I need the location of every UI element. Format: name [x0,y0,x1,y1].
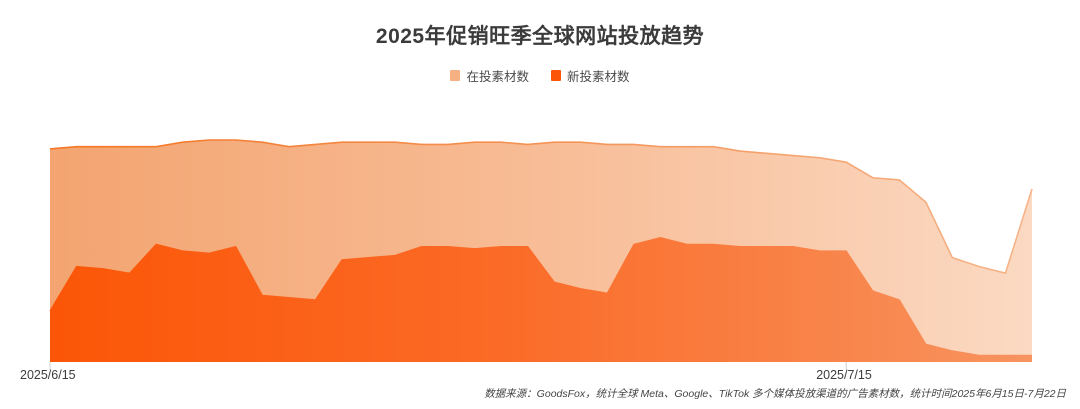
x-axis-label-mid: 2025/7/15 [816,368,872,382]
chart-plot-area [0,0,1080,409]
chart-container: 2025年促销旺季全球网站投放趋势 在投素材数 新投素材数 [0,0,1080,409]
x-axis-label-start: 2025/6/15 [20,368,76,382]
chart-footnote: 数据来源：GoodsFox，统计全球 Meta、Google、TikTok 多个… [484,386,1066,401]
